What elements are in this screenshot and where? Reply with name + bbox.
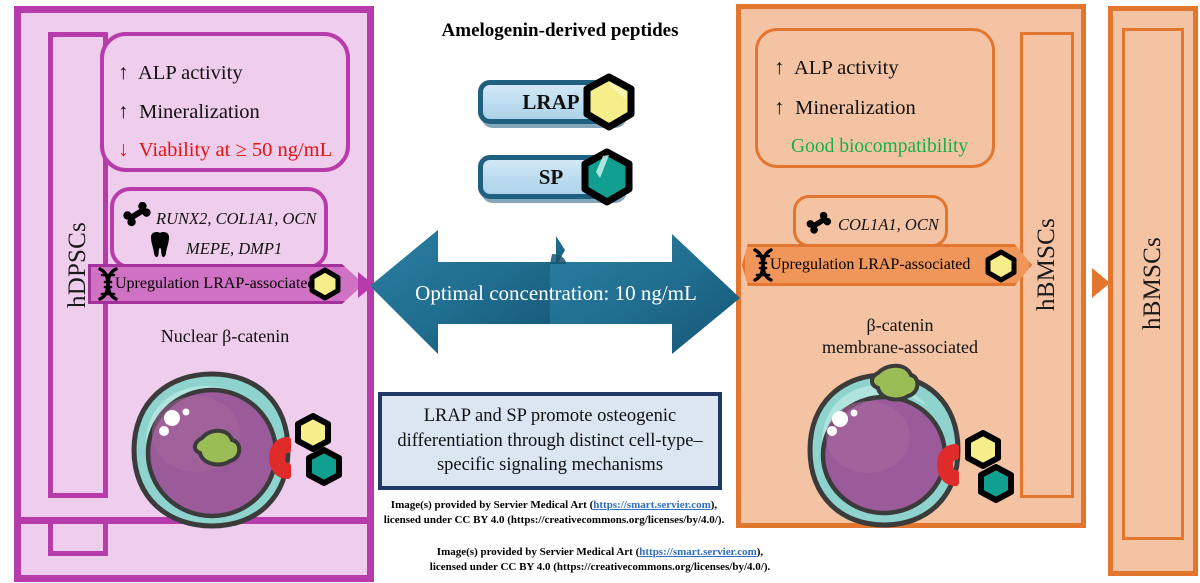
page-title: Amelogenin-derived peptides — [400, 20, 720, 42]
left-effect-label-1: Mineralization — [139, 101, 260, 123]
left-cell-illustration — [110, 358, 360, 548]
peptide-chip-sp-label: SP — [539, 165, 564, 190]
right-effect-row-2: Good biocompatibility — [774, 137, 968, 157]
right-outer-panel-label: hBMSCs — [1125, 31, 1181, 537]
hexagon-yellow-icon — [309, 268, 341, 300]
up-arrow-icon: ↑ — [118, 62, 134, 83]
right-effect-label-2: Good biocompatibility — [791, 136, 968, 157]
attribution-lower-suffix: ), — [757, 546, 763, 558]
attribution-upper-link[interactable]: https://smart.servier.com — [593, 499, 711, 511]
right-cell-caption-line1: β-catenin — [790, 315, 1010, 337]
attribution-upper-prefix: Image(s) provided by Servier Medical Art… — [391, 499, 593, 511]
optimal-concentration-arrow: Optimal concentration: 10 ng/mL — [370, 228, 740, 360]
down-arrow-icon: ↓ — [118, 139, 134, 160]
right-gene-line-1: COL1A1, OCN — [838, 215, 939, 235]
right-effects-box: ↑ ALP activity ↑ Mineralization Good bio… — [755, 28, 995, 168]
bone-icon — [806, 211, 832, 235]
peptide-chip-lrap-label: LRAP — [522, 90, 579, 115]
bone-icon — [122, 201, 152, 228]
summary-caption-box: LRAP and SP promote osteogenic different… — [378, 392, 722, 490]
attribution-upper-line2: licensed under CC BY 4.0 (https://creati… — [384, 514, 724, 526]
optimal-concentration-arrow-label: Optimal concentration: 10 ng/mL — [415, 281, 697, 305]
summary-caption-text: LRAP and SP promote osteogenic different… — [392, 404, 708, 477]
up-arrow-icon: ↑ — [774, 97, 790, 118]
left-gene-box: RUNX2, COL1A1, OCN MEPE, DMP1 — [110, 187, 328, 269]
attribution-lower-link[interactable]: https://smart.servier.com — [639, 546, 757, 558]
right-cell-caption: β-catenin membrane-associated — [790, 315, 1010, 359]
right-effect-row-0: ↑ ALP activity — [774, 57, 968, 79]
attribution-lower-line2: licensed under CC BY 4.0 (https://creati… — [430, 561, 770, 573]
left-effect-row-0: ↑ ALP activity — [118, 62, 332, 84]
attribution-upper: Image(s) provided by Servier Medical Art… — [378, 498, 730, 528]
right-effect-label-0: ALP activity — [794, 57, 899, 79]
left-gene-line-1: RUNX2, COL1A1, OCN — [156, 209, 316, 229]
right-banner-text: Upregulation LRAP-associated — [770, 256, 970, 274]
right-gene-box: COL1A1, OCN — [793, 195, 948, 247]
attribution-lower: Image(s) provided by Servier Medical Art… — [400, 545, 800, 575]
right-effect-row-1: ↑ Mineralization — [774, 97, 968, 119]
left-gene-line-2: MEPE, DMP1 — [186, 239, 282, 259]
left-effect-row-1: ↑ Mineralization — [118, 101, 332, 123]
hexagon-yellow-icon — [985, 250, 1017, 282]
left-banner-text: Upregulation LRAP-associated — [115, 275, 315, 293]
up-arrow-icon: ↑ — [118, 101, 134, 122]
left-effect-row-2: ↓ Viability at ≥ 50 ng/mL — [118, 139, 332, 161]
right-effect-label-1: Mineralization — [795, 97, 916, 119]
graphical-abstract: hBMSCs hBMSCs ↑ ALP activity ↑ Mineraliz… — [0, 0, 1200, 583]
right-cell-illustration — [780, 355, 1030, 545]
attribution-lower-prefix: Image(s) provided by Servier Medical Art… — [437, 546, 639, 558]
left-cell-caption: Nuclear β-catenin — [110, 326, 340, 348]
hexagon-yellow-icon — [580, 73, 638, 131]
tooth-icon — [148, 231, 172, 261]
left-effect-label-0: ALP activity — [138, 62, 243, 84]
right-outer-panel-strip: hBMSCs — [1122, 28, 1184, 540]
panel-connector-chevron-outer — [1092, 268, 1110, 298]
left-effects-box: ↑ ALP activity ↑ Mineralization ↓ Viabil… — [100, 32, 350, 172]
up-arrow-icon: ↑ — [774, 57, 790, 78]
attribution-upper-suffix: ), — [711, 499, 717, 511]
left-effect-label-2: Viability at ≥ 50 ng/mL — [139, 139, 332, 161]
hexagon-teal-icon — [578, 148, 636, 206]
